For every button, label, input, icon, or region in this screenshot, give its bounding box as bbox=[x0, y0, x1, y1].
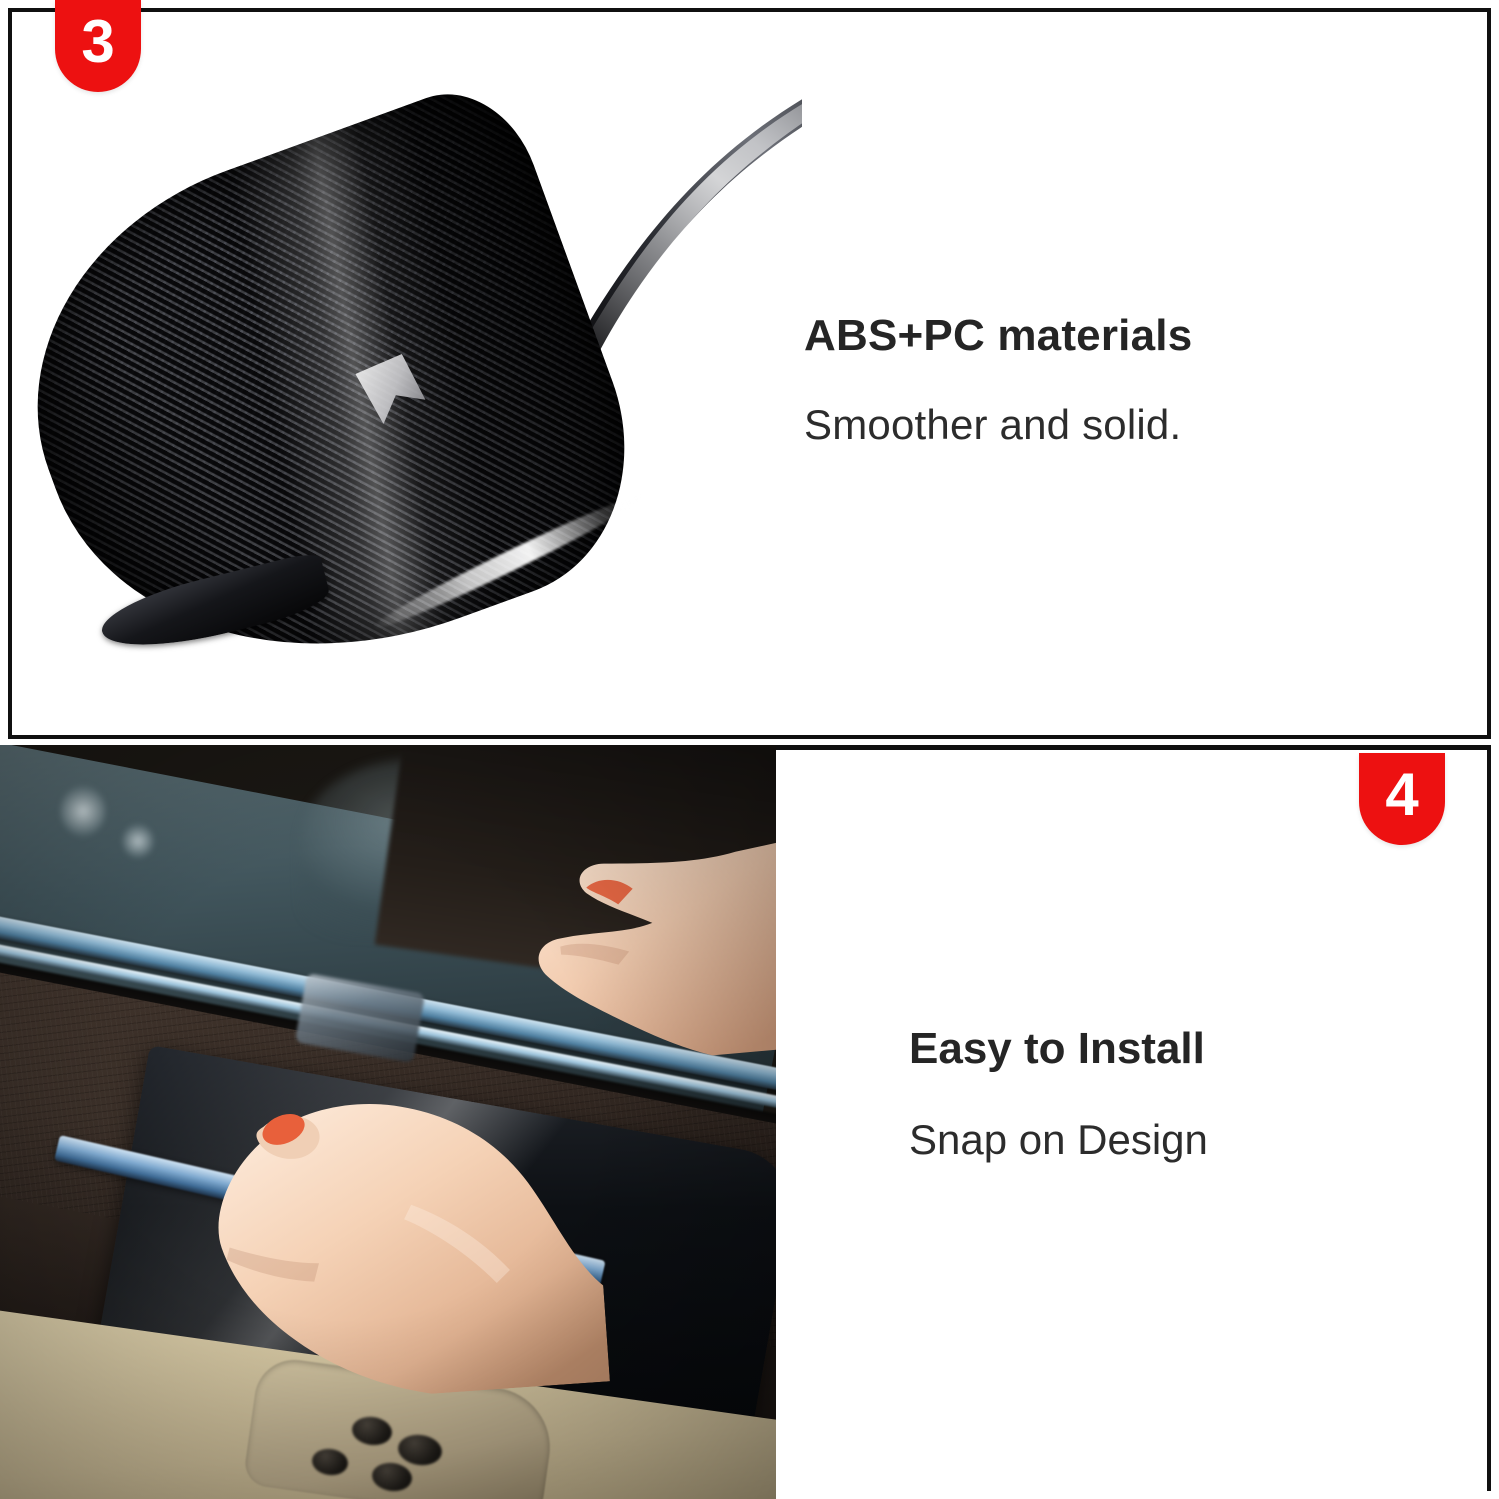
feature-4-copy: Easy to Install Snap on Design bbox=[909, 1025, 1469, 1164]
carbon-tail-icon bbox=[568, 28, 802, 358]
installation-photo bbox=[0, 745, 776, 1499]
feature-3-headline: ABS+PC materials bbox=[804, 312, 1474, 360]
feature-panel-3: ABS+PC materials Smoother and solid. bbox=[8, 8, 1491, 739]
feature-3-copy: ABS+PC materials Smoother and solid. bbox=[804, 312, 1474, 449]
photo-vignette bbox=[0, 745, 776, 1499]
product-image-stage bbox=[12, 12, 802, 735]
infographic-page: ABS+PC materials Smoother and solid. bbox=[0, 0, 1499, 1499]
step-badge-4: 4 bbox=[1359, 753, 1445, 845]
feature-4-headline: Easy to Install bbox=[909, 1025, 1469, 1073]
feature-3-subline: Smoother and solid. bbox=[804, 402, 1474, 448]
feature-panel-4: Easy to Install Snap on Design bbox=[776, 745, 1491, 1491]
feature-4-subline: Snap on Design bbox=[909, 1117, 1469, 1163]
step-badge-3: 3 bbox=[55, 0, 141, 92]
